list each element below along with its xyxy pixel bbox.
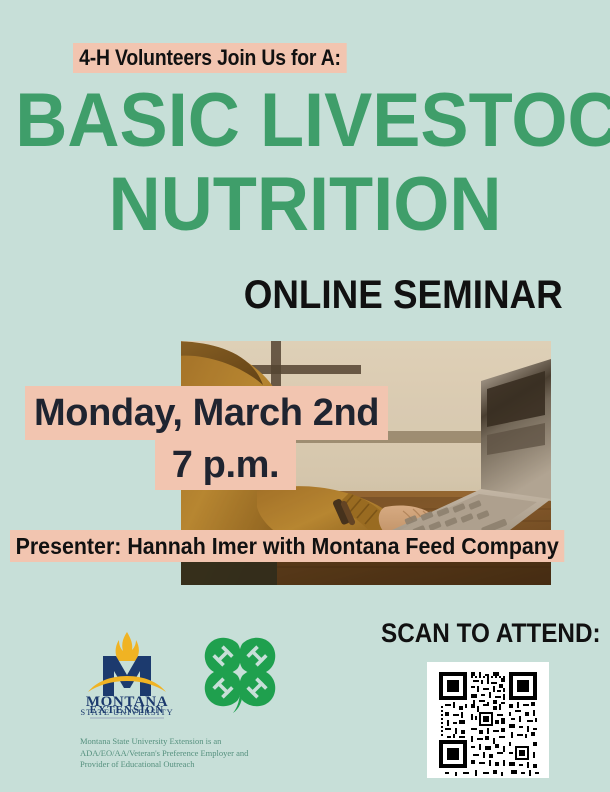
flame-icon [116, 632, 139, 661]
kicker-text: 4-H Volunteers Join Us for A: [73, 43, 347, 73]
title-line-1: BASIC LIVESTOCK [15, 82, 595, 160]
fineprint-line-2: ADA/EO/AA/Veteran's Preference Employer … [80, 748, 310, 760]
scan-to-attend-heading: SCAN TO ATTEND: [381, 617, 601, 649]
fineprint-block: Montana State University Extension is an… [80, 736, 310, 771]
presenter-line: Presenter: Hannah Imer with Montana Feed… [10, 530, 564, 562]
msu-wordmark-extension: EXTENSION [72, 704, 182, 716]
qr-code[interactable] [427, 662, 549, 778]
page-title: BASIC LIVESTOCK NUTRITION [0, 82, 610, 244]
poster-canvas: 4-H Volunteers Join Us for A: BASIC LIVE… [0, 0, 610, 792]
fineprint-line-1: Montana State University Extension is an [80, 736, 310, 748]
subtitle-text: ONLINE SEMINAR [244, 272, 563, 318]
event-time: 7 p.m. [155, 440, 296, 490]
fineprint-line-3: Provider of Educational Outreach [80, 759, 310, 771]
title-line-2: NUTRITION [15, 166, 595, 244]
four-h-clover-logo [199, 633, 281, 715]
event-date: Monday, March 2nd [25, 386, 388, 440]
